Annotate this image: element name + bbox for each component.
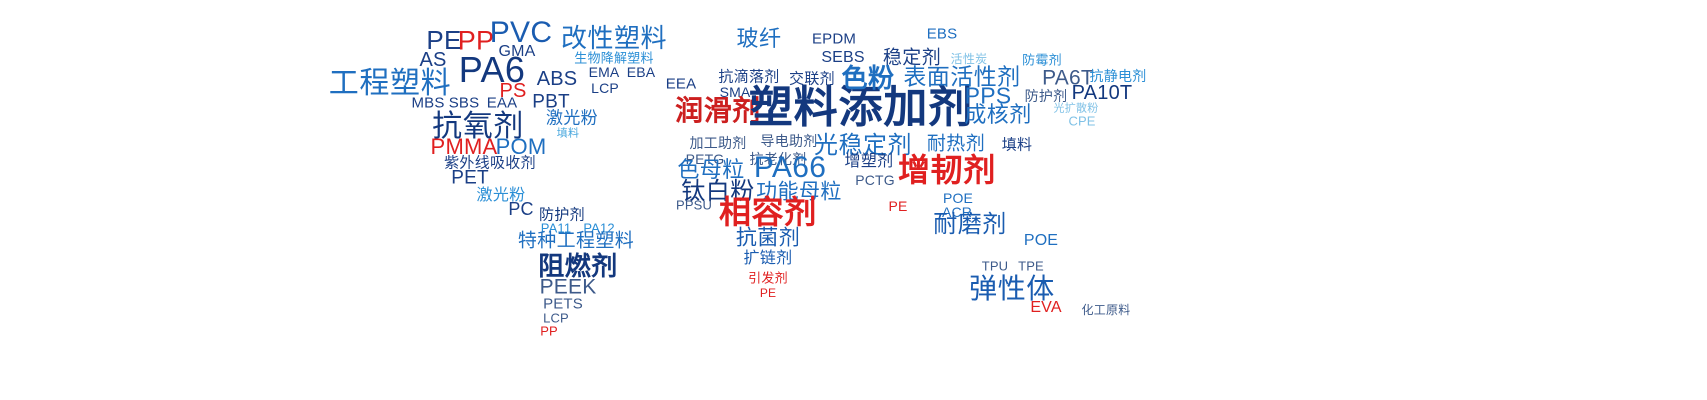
word-cloud-term[interactable]: PP [540,325,558,338]
word-cloud-term[interactable]: 加工助剂 [689,136,746,150]
word-cloud-term[interactable]: EVA [1030,300,1061,316]
word-cloud-term[interactable]: 生物降解塑料 [574,52,654,65]
word-cloud-term[interactable]: PETS [543,297,583,312]
word-cloud-term[interactable]: SBS [449,96,479,111]
word-cloud-term[interactable]: EEA [666,77,696,92]
word-cloud-term[interactable]: ABS [537,69,578,89]
word-cloud-term[interactable]: EPDM [812,32,856,47]
word-cloud-term[interactable]: 改性塑料 [561,25,667,51]
word-cloud-term[interactable]: PEEK [540,277,597,298]
word-cloud-term[interactable]: 引发剂 [748,272,788,285]
word-cloud-term[interactable]: PPSU [676,199,712,212]
word-cloud-term[interactable]: 防护剂 [1025,89,1068,103]
word-cloud-term[interactable]: TPE [1018,260,1044,273]
word-cloud-term[interactable]: 相容剂 [719,196,817,228]
word-cloud-term[interactable]: 化工原料 [1082,304,1131,316]
word-cloud-term[interactable]: 增塑剂 [845,154,894,170]
word-cloud-term[interactable]: PC [508,200,533,218]
word-cloud-term[interactable]: LCP [591,81,619,95]
word-cloud-term[interactable]: 抗菌剂 [736,228,800,249]
word-cloud-term[interactable]: 耐磨剂 [933,213,1006,237]
word-cloud-term[interactable]: MBS [412,96,445,111]
word-cloud-term[interactable]: 成核剂 [964,104,1031,126]
word-cloud-term[interactable]: 填料 [1002,138,1033,153]
word-cloud-term[interactable]: TPU [982,260,1008,273]
word-cloud-term[interactable]: 激光粉 [546,110,598,127]
word-cloud-term[interactable]: POE [1024,233,1058,249]
word-cloud-term[interactable]: 增韧剂 [898,154,996,186]
word-cloud-term[interactable]: EMA [589,65,620,79]
word-cloud-term[interactable]: EBA [627,65,655,79]
word-cloud-term[interactable]: PA66 [754,153,826,183]
word-cloud-term[interactable]: CPE [1068,115,1095,128]
word-cloud-term[interactable]: 耐热剂 [927,135,985,154]
word-cloud-term[interactable]: 导电助剂 [760,134,817,148]
word-cloud-term[interactable]: PA10T [1072,83,1133,103]
word-cloud-term[interactable]: EBS [927,27,957,42]
word-cloud-term[interactable]: PE [760,287,776,299]
word-cloud-term[interactable]: POE [943,191,973,205]
word-cloud-term[interactable]: PCTG [855,173,894,187]
word-cloud-term[interactable]: 填料 [557,129,579,140]
word-cloud-term[interactable]: 色粉 [841,65,894,91]
word-cloud-term[interactable]: 扩链剂 [744,251,793,267]
word-cloud-term[interactable]: EAA [487,96,517,111]
word-cloud-term[interactable]: PET [451,169,489,188]
word-cloud-canvas: PEPPPVCGMAASPA6工程塑料PSABSMBSSBSEAAPBT抗氧剂激… [0,0,1707,400]
word-cloud-term[interactable]: 防霉剂 [1022,54,1062,67]
word-cloud-term[interactable]: 抗静电剂 [1089,69,1146,83]
word-cloud-term[interactable]: 特种工程塑料 [518,232,634,251]
word-cloud-term[interactable]: 玻纤 [737,28,782,50]
word-cloud-term[interactable]: PE [889,199,908,213]
